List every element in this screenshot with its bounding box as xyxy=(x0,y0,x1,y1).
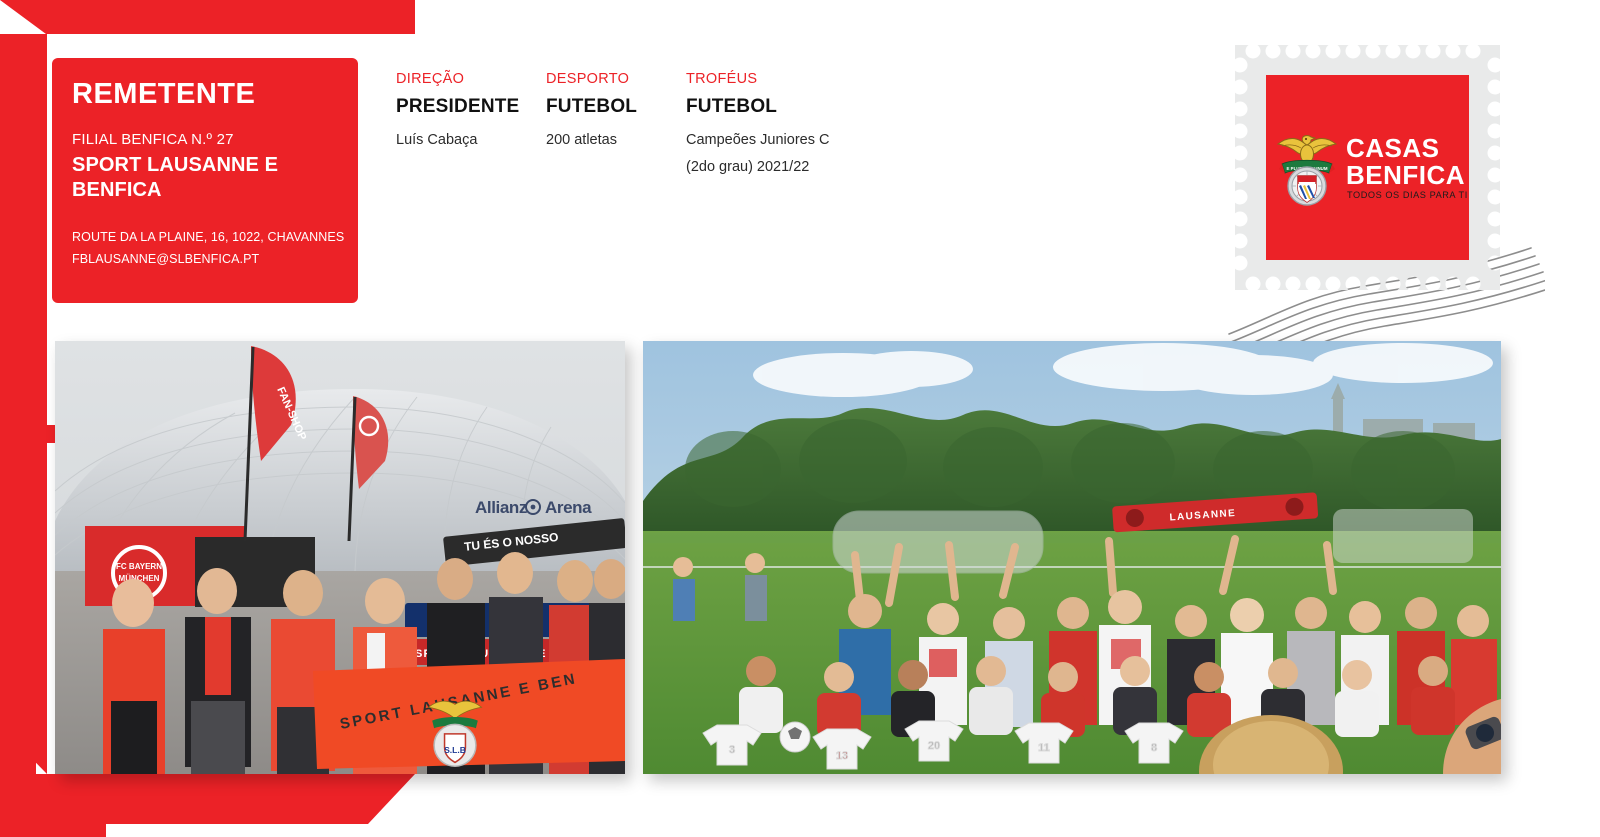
stamp-tagline: TODOS OS DIAS PARA TI xyxy=(1347,190,1468,200)
svg-text:11: 11 xyxy=(1038,742,1050,754)
column-line: Luís Cabaça xyxy=(396,130,546,150)
column-heading: FUTEBOL xyxy=(546,97,686,116)
sender-address: ROUTE DA LA PLAINE, 16, 1022, CHAVANNES xyxy=(72,227,338,249)
stamp-brand-line-2: BENFICA xyxy=(1346,162,1468,189)
postage-stamp: E PLURIBUS UNUM xyxy=(1235,45,1500,290)
column-heading: FUTEBOL xyxy=(686,97,916,116)
photo-right-illustration: LAUSANNE xyxy=(643,341,1501,774)
sender-branch-number: FILIAL BENFICA N.º 27 xyxy=(72,131,338,149)
svg-text:S.L.B: S.L.B xyxy=(444,745,466,755)
benfica-eagle-crest-icon: E PLURIBUS UNUM xyxy=(1274,128,1340,208)
column-line: (2do grau) 2021/22 xyxy=(686,157,916,177)
red-band-bottom-left xyxy=(0,774,415,824)
sender-card-title: REMETENTE xyxy=(72,80,338,109)
column-line: 200 atletas xyxy=(546,130,686,150)
photo-left-illustration: Allianz Arena FC BAYERN MÜNCHEN FAN-SHOP… xyxy=(55,341,625,774)
column-heading: PRESIDENTE xyxy=(396,97,546,116)
photo-allianz-arena-supporters: Allianz Arena FC BAYERN MÜNCHEN FAN-SHOP… xyxy=(55,341,625,774)
svg-text:3: 3 xyxy=(729,744,735,756)
postage-stamp-block: E PLURIBUS UNUM xyxy=(1205,40,1545,340)
info-columns: DIREÇÃO PRESIDENTE Luís Cabaça DESPORTO … xyxy=(396,72,916,184)
stamp-red-field: E PLURIBUS UNUM xyxy=(1266,75,1469,260)
svg-text:Arena: Arena xyxy=(545,498,592,517)
sender-email[interactable]: FBLAUSANNE@SLBENFICA.PT xyxy=(72,249,338,271)
sender-club-name: SPORT LAUSANNE E BENFICA xyxy=(72,153,338,203)
svg-text:FC BAYERN: FC BAYERN xyxy=(116,562,162,571)
info-column-direcao: DIREÇÃO PRESIDENTE Luís Cabaça xyxy=(396,72,546,184)
info-column-trofeus: TROFÉUS FUTEBOL Campeões Juniores C (2do… xyxy=(686,72,916,184)
casas-benfica-wordmark: CASAS BENFICA TODOS OS DIAS PARA TI xyxy=(1346,135,1468,200)
svg-text:Allianz: Allianz xyxy=(475,498,527,517)
stamp-brand-line-1: CASAS xyxy=(1346,135,1468,162)
column-line: Campeões Juniores C xyxy=(686,130,916,150)
svg-text:8: 8 xyxy=(1151,742,1157,754)
column-eyebrow: DESPORTO xyxy=(546,72,686,87)
info-column-desporto: DESPORTO FUTEBOL 200 atletas xyxy=(546,72,686,184)
svg-text:20: 20 xyxy=(928,740,940,752)
column-eyebrow: TROFÉUS xyxy=(686,72,916,87)
svg-text:13: 13 xyxy=(836,750,848,762)
red-band-top-right xyxy=(0,0,415,34)
sender-card: REMETENTE FILIAL BENFICA N.º 27 SPORT LA… xyxy=(52,58,358,303)
column-eyebrow: DIREÇÃO xyxy=(396,72,546,87)
document-page: REMETENTE FILIAL BENFICA N.º 27 SPORT LA… xyxy=(0,0,1600,837)
photo-team-group-pitch: LAUSANNE xyxy=(643,341,1501,774)
